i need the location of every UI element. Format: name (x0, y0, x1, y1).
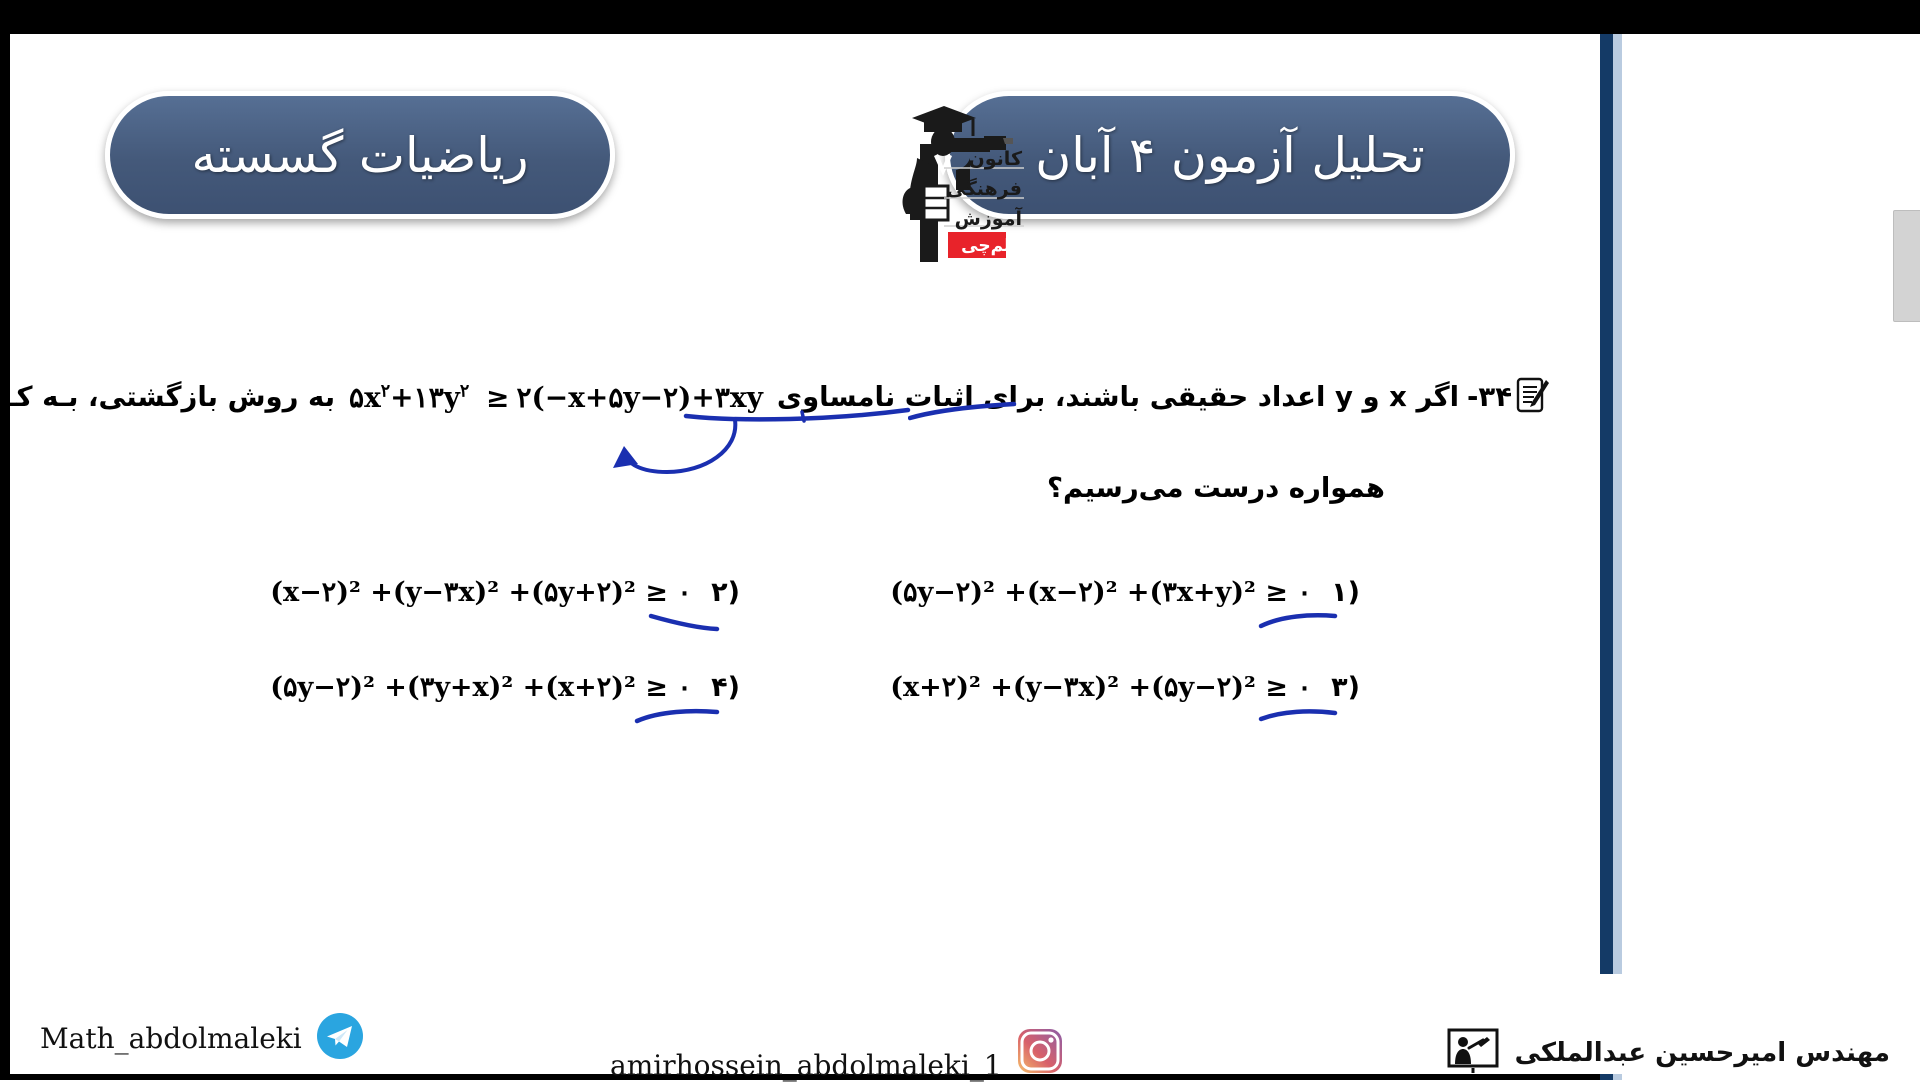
pen-mark-arrow-up (605, 416, 745, 506)
option-1[interactable]: (۱ (۵y−۲)² +(x−۲)² +(۳x+y)² ≥ ۰ (890, 577, 1360, 608)
instagram-handle: amirhossein_abdolmaleki_1 (610, 1049, 1002, 1082)
option-3[interactable]: (۳ (x+۲)² +(y−۳x)² +(۵y−۲)² ≥ ۰ (890, 672, 1360, 703)
footer-telegram[interactable]: Math_abdolmaleki (40, 1012, 364, 1064)
presenter-name: مهندس امیرحسین عبدالملکی (1515, 1038, 1890, 1068)
logo-line-3: آموزش (950, 204, 1022, 234)
option-4-number: (۴ (711, 672, 740, 703)
option-1-expression: (۵y−۲)² +(x−۲)² +(۳x+y)² ≥ ۰ (890, 577, 1312, 608)
math-rhs: ۲(−x+۵y−۲)+۳xy (516, 381, 762, 414)
scroll-thumb[interactable] (1893, 210, 1920, 322)
subject-pill-label: ریاضیات گسسته (191, 127, 528, 184)
option-1-number: (۱ (1331, 577, 1360, 608)
subject-pill[interactable]: ریاضیات گسسته (105, 91, 615, 219)
footer-presenter: مهندس امیرحسین عبدالملکی (1447, 1028, 1890, 1078)
pen-mark-underline-option-2 (648, 612, 720, 632)
question-line-2: همواره درست می‌رسیم؟ (1047, 472, 1385, 504)
right-rail-dark (1600, 34, 1613, 1080)
pen-mark-underline-option-1 (1258, 612, 1338, 630)
question-text-before: اگر x و y اعداد حقیقی باشند، برای اثبات … (777, 381, 1459, 413)
recorder-left-edge (0, 34, 10, 1074)
right-rail-light (1613, 34, 1622, 1080)
option-2-number: (۲ (711, 577, 740, 608)
option-4-expression: (۵y−۲)² +(۳y+x)² +(x+۲)² ≥ ۰ (270, 672, 692, 703)
pen-mark-underline-option-4 (634, 708, 720, 726)
math-lhs-b: +۱۳y (390, 381, 460, 414)
logo-badge-label: قلم‌چی (950, 234, 1022, 258)
question-math-expression: ۵x۲+۱۳y۲ ≥۲(−x+۵y−۲)+۳xy (349, 381, 763, 414)
option-3-number: (۳ (1331, 672, 1360, 703)
option-2-expression: (x−۲)² +(y−۳x)² +(۵y+۲)² ≥ ۰ (270, 577, 692, 608)
logo-line-2: فرهنگی (950, 174, 1022, 204)
math-lhs-a: ۵x (349, 381, 381, 414)
recorder-top-bar (0, 0, 1920, 34)
kanoon-logo: کانون فرهنگی آموزش قلم‌چی (872, 92, 1024, 262)
instagram-icon (1016, 1027, 1064, 1079)
telegram-handle: Math_abdolmaleki (40, 1022, 302, 1055)
logo-line-1: کانون (950, 144, 1022, 174)
footer-instagram[interactable]: amirhossein_abdolmaleki_1 (610, 1023, 1064, 1082)
pen-mark-underline-option-3 (1258, 708, 1338, 724)
presenter-board-icon (1447, 1028, 1499, 1078)
option-2[interactable]: (۲ (x−۲)² +(y−۳x)² +(۵y+۲)² ≥ ۰ (270, 577, 740, 608)
exam-title-pill[interactable]: تحلیل آزمون ۴ آبان (945, 91, 1515, 219)
question-line-1: ۳۴- اگر x و y اعداد حقیقی باشند، برای اث… (70, 375, 1550, 419)
exam-title-pill-label: تحلیل آزمون ۴ آبان (1035, 127, 1424, 184)
scroll-track[interactable] (1634, 34, 1920, 1080)
option-4[interactable]: (۴ (۵y−۲)² +(۳y+x)² +(x+۲)² ≥ ۰ (270, 672, 740, 703)
question-text-after: به روش بازگشتی، بـه کــدام رابطــهٔ (0, 381, 335, 413)
note-pen-icon (1516, 375, 1550, 420)
right-rail-gap (1622, 34, 1634, 1080)
question-number: ۳۴- (1467, 381, 1512, 413)
math-lhs-a-sup: ۲ (381, 381, 390, 401)
slide-canvas: ریاضیات گسسته تحلیل آزمون ۴ آبان (10, 34, 1600, 1074)
telegram-icon (316, 1012, 364, 1064)
math-lhs-b-sup: ۲ (460, 381, 469, 401)
math-relation: ≥ (486, 381, 509, 414)
footer: Math_abdolmaleki amirhossein_abdolmaleki… (10, 974, 1920, 1074)
option-3-expression: (x+۲)² +(y−۳x)² +(۵y−۲)² ≥ ۰ (890, 672, 1312, 703)
